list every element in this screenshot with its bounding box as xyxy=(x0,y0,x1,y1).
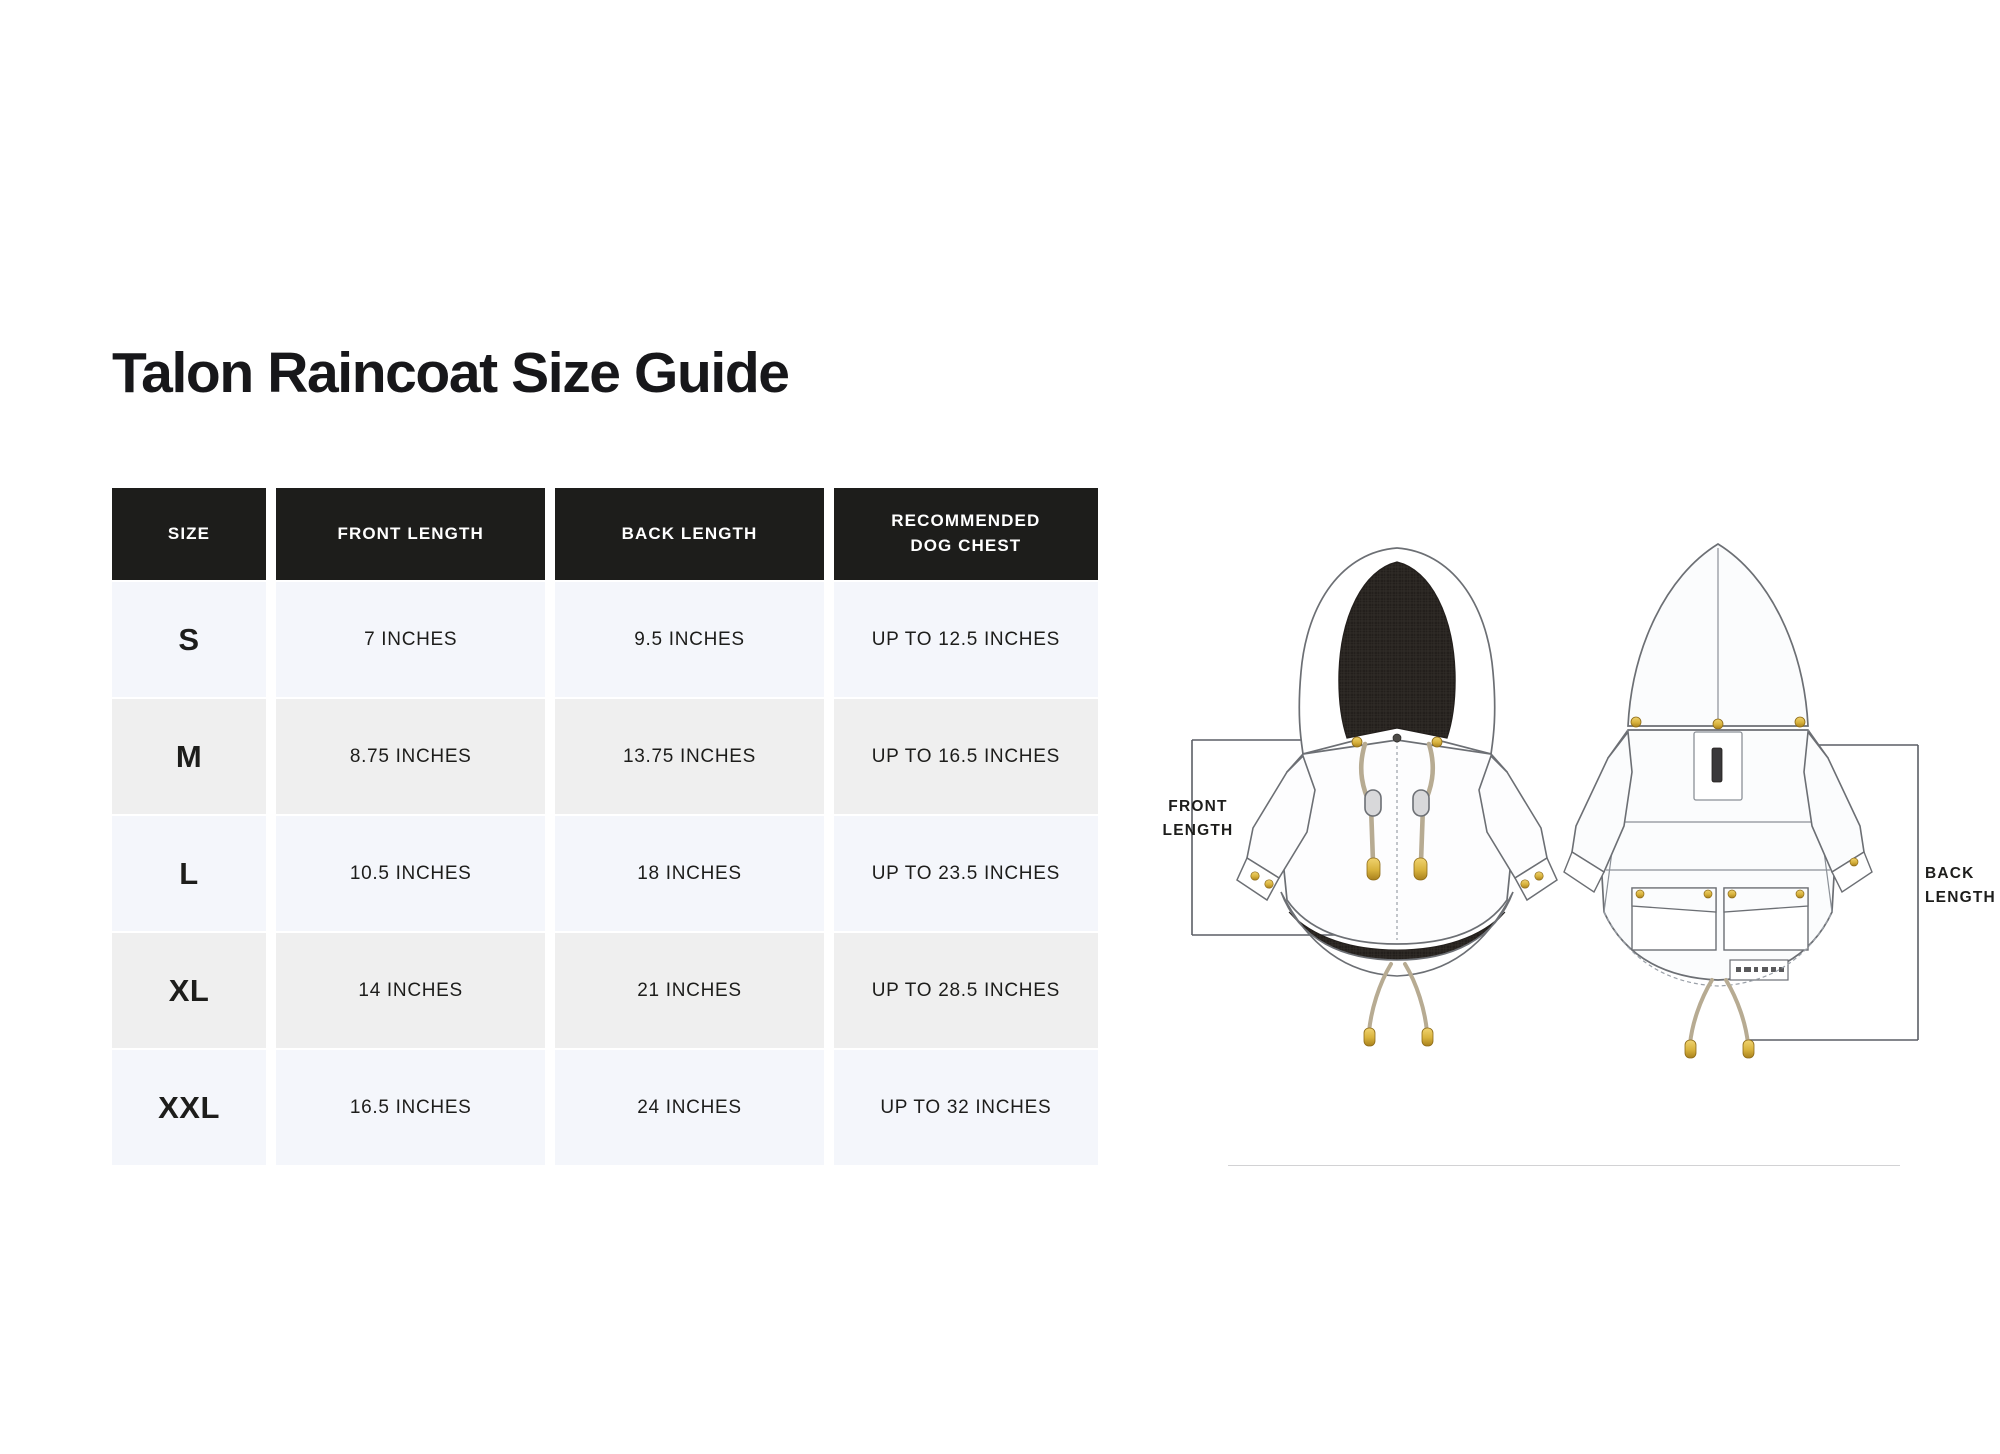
hem-cord-left-back xyxy=(1690,980,1712,1044)
pocket-snap-icon xyxy=(1636,890,1644,898)
raincoat-back-view xyxy=(1564,544,1872,1058)
pocket-snap-icon xyxy=(1704,890,1712,898)
hem-cord-tip-right xyxy=(1422,1028,1433,1046)
cord-toggle-right xyxy=(1413,790,1429,816)
hood-snap-icon xyxy=(1631,717,1641,727)
cell-back-length: 21 INCHES xyxy=(555,933,823,1048)
back-length-label-line1: BACK xyxy=(1925,862,2000,886)
hem-cord-tip-left xyxy=(1364,1028,1375,1046)
raincoat-illustrations xyxy=(1150,540,1960,1190)
cell-front-length: 8.75 INCHES xyxy=(276,699,545,814)
cell-back-length: 9.5 INCHES xyxy=(555,582,823,697)
pocket-snap-icon xyxy=(1796,890,1804,898)
cell-dog-chest: UP TO 23.5 INCHES xyxy=(834,816,1098,931)
cuff-snap-icon xyxy=(1850,858,1858,866)
table-row: XL 14 INCHES 21 INCHES UP TO 28.5 INCHES xyxy=(112,933,1098,1048)
front-length-label-line2: LENGTH xyxy=(1148,819,1248,843)
raincoat-front-view xyxy=(1237,548,1557,1046)
cell-size: S xyxy=(112,582,266,697)
cell-dog-chest: UP TO 32 INCHES xyxy=(834,1050,1098,1165)
cuff-snap-icon xyxy=(1265,880,1273,888)
cell-back-length: 24 INCHES xyxy=(555,1050,823,1165)
table-header-row: SIZE FRONT LENGTH BACK LENGTH RECOMMENDE… xyxy=(112,488,1098,580)
cord-tip-right xyxy=(1414,858,1427,880)
size-chart-table: SIZE FRONT LENGTH BACK LENGTH RECOMMENDE… xyxy=(112,488,1098,1167)
column-header-dog-chest-line1: RECOMMENDED xyxy=(891,509,1040,534)
cell-dog-chest: UP TO 28.5 INCHES xyxy=(834,933,1098,1048)
cell-dog-chest: UP TO 16.5 INCHES xyxy=(834,699,1098,814)
page-title: Talon Raincoat Size Guide xyxy=(112,340,789,406)
hem-cord-right-back xyxy=(1726,980,1748,1044)
back-length-label: BACK LENGTH xyxy=(1925,862,2000,910)
column-header-front-length: FRONT LENGTH xyxy=(276,488,545,580)
cell-size: M xyxy=(112,699,266,814)
pocket-left xyxy=(1632,888,1716,950)
hem-cord-tip-left-back xyxy=(1685,1040,1696,1058)
pocket-right xyxy=(1724,888,1808,950)
back-length-label-line2: LENGTH xyxy=(1925,886,2000,910)
column-header-back-length: BACK LENGTH xyxy=(555,488,823,580)
column-header-dog-chest: RECOMMENDED DOG CHEST xyxy=(834,488,1098,580)
size-guide-page: Talon Raincoat Size Guide SIZE FRONT LEN… xyxy=(0,0,2000,1454)
front-length-label: FRONT LENGTH xyxy=(1148,795,1248,843)
cell-front-length: 14 INCHES xyxy=(276,933,545,1048)
cell-size: L xyxy=(112,816,266,931)
leash-slot-icon xyxy=(1712,748,1722,782)
table-row: S 7 INCHES 9.5 INCHES UP TO 12.5 INCHES xyxy=(112,582,1098,697)
cord-toggle-left xyxy=(1365,790,1381,816)
table-row: M 8.75 INCHES 13.75 INCHES UP TO 16.5 IN… xyxy=(112,699,1098,814)
table-row: XXL 16.5 INCHES 24 INCHES UP TO 32 INCHE… xyxy=(112,1050,1098,1165)
collar-snap-icon xyxy=(1432,737,1442,747)
cell-front-length: 16.5 INCHES xyxy=(276,1050,545,1165)
cell-front-length: 10.5 INCHES xyxy=(276,816,545,931)
cell-size: XXL xyxy=(112,1050,266,1165)
hem-cord-tip-right-back xyxy=(1743,1040,1754,1058)
cuff-snap-icon xyxy=(1251,872,1259,880)
table-row: L 10.5 INCHES 18 INCHES UP TO 23.5 INCHE… xyxy=(112,816,1098,931)
cuff-snap-icon xyxy=(1535,872,1543,880)
bottom-divider-rule xyxy=(1228,1165,1900,1166)
hood-snap-icon xyxy=(1713,719,1723,729)
cell-size: XL xyxy=(112,933,266,1048)
front-length-label-line1: FRONT xyxy=(1148,795,1248,819)
collar-grommet-icon xyxy=(1393,734,1401,742)
cell-dog-chest: UP TO 12.5 INCHES xyxy=(834,582,1098,697)
hood-snap-icon xyxy=(1795,717,1805,727)
pocket-snap-icon xyxy=(1728,890,1736,898)
cell-front-length: 7 INCHES xyxy=(276,582,545,697)
collar-snap-icon xyxy=(1352,737,1362,747)
cell-back-length: 13.75 INCHES xyxy=(555,699,823,814)
cell-back-length: 18 INCHES xyxy=(555,816,823,931)
column-header-dog-chest-line2: DOG CHEST xyxy=(891,534,1040,559)
cord-tip-left xyxy=(1367,858,1380,880)
cuff-snap-icon xyxy=(1521,880,1529,888)
column-header-size: SIZE xyxy=(112,488,266,580)
